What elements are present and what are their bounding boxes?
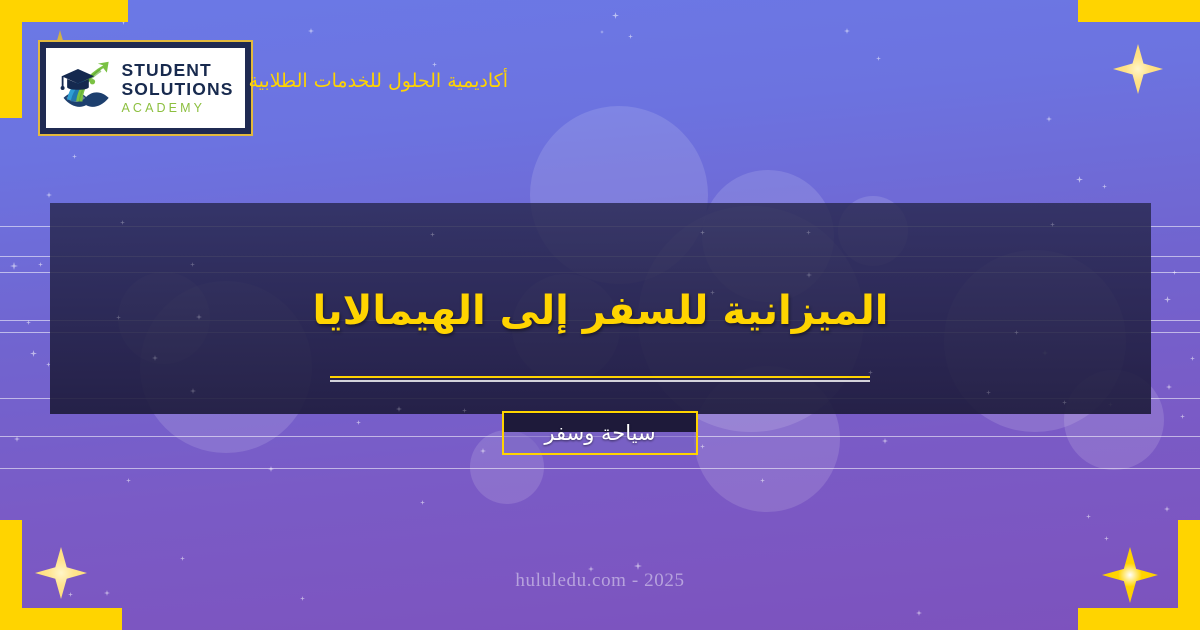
sparkle-icon [1076, 176, 1083, 183]
sparkle-icon [30, 350, 37, 357]
title-divider-white-line [330, 380, 870, 382]
sparkle-icon [46, 192, 52, 198]
corner-bracket-top-right-vertical [1178, 0, 1200, 22]
star-sparkle-top-right-icon [1113, 44, 1163, 94]
brand-logo-wordmark: STUDENT SOLUTIONS ACADEMY [122, 62, 234, 115]
title-divider-gold-line [330, 376, 870, 378]
sparkle-icon [300, 596, 305, 601]
sparkle-icon [700, 444, 705, 449]
sparkle-icon [268, 466, 274, 472]
sparkle-icon [180, 556, 185, 561]
sparkle-icon [760, 478, 765, 483]
slide-canvas: STUDENT SOLUTIONS ACADEMY أكاديمية الحلو… [0, 0, 1200, 630]
sparkle-icon [882, 438, 888, 444]
sparkle-icon [634, 562, 642, 570]
sparkle-icon [1164, 506, 1170, 512]
sparkle-icon [1172, 270, 1177, 275]
sparkle-icon [72, 154, 77, 159]
title-divider [330, 376, 870, 382]
footer-credit: hululedu.com - 2025 [0, 570, 1200, 592]
sparkle-icon [432, 62, 437, 67]
graduation-cap-arrow-book-logo-icon [58, 60, 116, 116]
category-badge[interactable]: سياحة وسفر [502, 411, 698, 455]
sparkle-icon [356, 420, 361, 425]
sparkle-icon [10, 262, 18, 270]
sparkle-icon [480, 448, 486, 454]
corner-bracket-bottom-left-horizontal [0, 608, 122, 630]
sparkle-icon [308, 28, 314, 34]
sparkle-icon [68, 592, 73, 597]
sparkle-icon [1102, 184, 1107, 189]
sparkle-icon [126, 478, 131, 483]
sparkle-icon [14, 436, 20, 442]
sparkle-icon [628, 34, 633, 39]
sparkle-icon [1166, 384, 1172, 390]
category-badge-label: سياحة وسفر [544, 421, 655, 445]
sparkle-icon [1190, 356, 1195, 361]
corner-bracket-bottom-right-horizontal [1078, 608, 1200, 630]
sparkle-icon [876, 56, 881, 61]
brand-arabic-name: أكاديمية الحلول للخدمات الطلابية [262, 70, 508, 92]
sparkle-icon [916, 610, 922, 616]
sparkle-icon [1180, 414, 1185, 419]
sparkle-icon [420, 500, 425, 505]
sparkle-icon [612, 12, 619, 19]
hairline [0, 468, 1200, 469]
sparkle-icon [600, 30, 604, 34]
page-title-wrapper: الميزانية للسفر إلى الهيمالايا [50, 286, 1151, 336]
sparkle-icon [844, 28, 850, 34]
sparkle-icon [1164, 296, 1171, 303]
sparkle-icon [26, 320, 31, 325]
brand-logo-frame[interactable]: STUDENT SOLUTIONS ACADEMY [38, 40, 253, 136]
logo-line-solutions: SOLUTIONS [122, 81, 234, 99]
sparkle-icon [1046, 116, 1052, 122]
logo-line-academy: ACADEMY [122, 102, 234, 115]
corner-bracket-top-left-vertical [0, 0, 22, 118]
page-title: الميزانية للسفر إلى الهيمالايا [50, 286, 1151, 336]
sparkle-icon [38, 262, 43, 267]
brand-logo-inner: STUDENT SOLUTIONS ACADEMY [46, 48, 245, 128]
sparkle-icon [1104, 536, 1109, 541]
sparkle-icon [1086, 514, 1091, 519]
logo-line-student: STUDENT [122, 62, 234, 80]
